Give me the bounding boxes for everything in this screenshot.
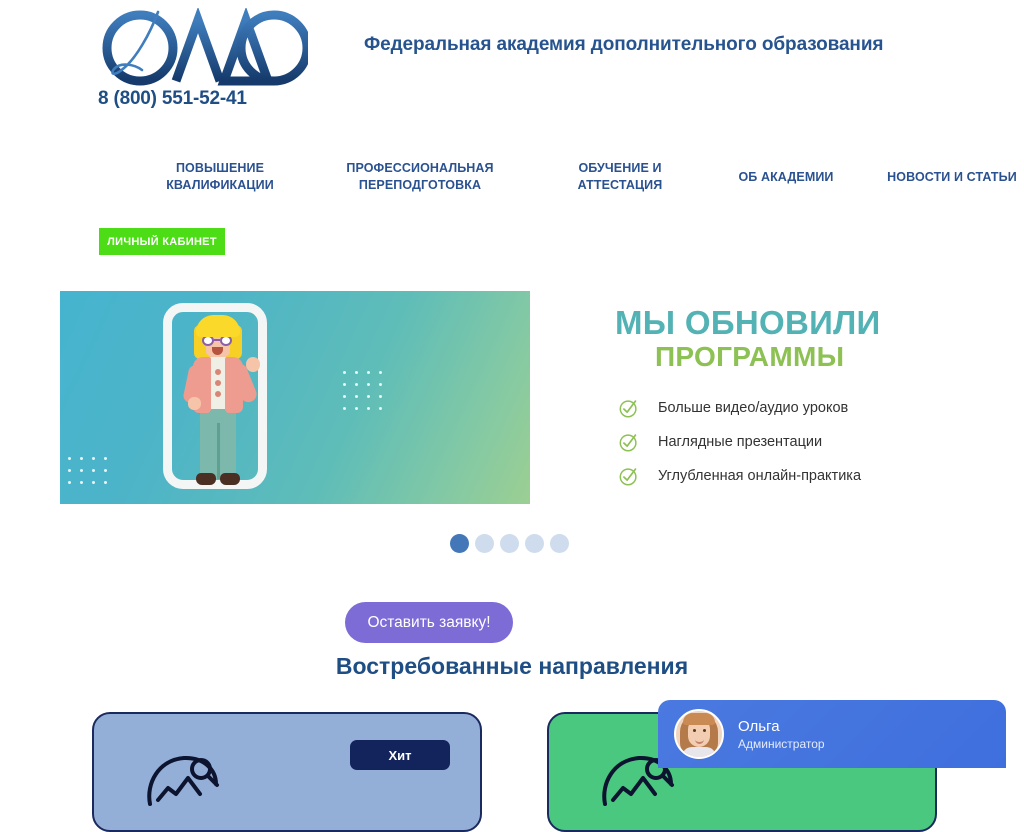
chat-operator-info: Ольга Администратор [738, 717, 825, 752]
slider-dot-5[interactable] [550, 534, 569, 553]
direction-card-1[interactable]: Хит [92, 712, 482, 832]
check-circle-icon [618, 397, 640, 419]
slider-dot-1[interactable] [450, 534, 469, 553]
card-badge-hit[interactable]: Хит [350, 740, 450, 770]
character-illustration [172, 313, 264, 493]
site-header: 8 (800) 551-52-41 Федеральная академия д… [0, 0, 1024, 130]
avatar [674, 709, 724, 759]
hero-feature-list: Больше видео/аудио уроков Наглядные през… [618, 391, 938, 493]
check-circle-icon [618, 465, 640, 487]
feature-label: Углубленная онлайн-практика [658, 468, 861, 484]
nav-item-novosti-i-stati[interactable]: НОВОСТИ И СТАТЬИ [880, 169, 1024, 186]
personal-account-button[interactable]: ЛИЧНЫЙ КАБИНЕТ [99, 228, 225, 255]
feature-label: Больше видео/аудио уроков [658, 400, 848, 416]
section-title-directions: Востребованные направления [0, 653, 1024, 680]
slider-dot-2[interactable] [475, 534, 494, 553]
leave-request-button[interactable]: Оставить заявку! [345, 602, 513, 643]
feature-label: Наглядные презентации [658, 434, 822, 450]
slider-pagination [450, 534, 569, 553]
nav-item-ob-akademii[interactable]: ОБ АКАДЕМИИ [727, 169, 845, 186]
chat-widget[interactable]: Ольга Администратор [658, 700, 1006, 768]
hero-slider: МЫ ОБНОВИЛИ ПРОГРАММЫ Больше видео/аудио… [60, 291, 964, 504]
list-item: Наглядные презентации [618, 425, 938, 459]
hero-headline-line1: МЫ ОБНОВИЛИ [615, 304, 881, 342]
page-title: Федеральная академия дополнительного обр… [364, 34, 883, 56]
slider-dot-4[interactable] [525, 534, 544, 553]
hero-slide-text-panel: МЫ ОБНОВИЛИ ПРОГРАММЫ Больше видео/аудио… [530, 291, 964, 504]
nav-item-professionalnaya-perepodgotovka[interactable]: ПРОФЕССИОНАЛЬНАЯ ПЕРЕПОДГОТОВКА [341, 160, 499, 194]
decorative-dots-left [68, 457, 107, 484]
nav-item-povyshenie-kvalifikacii[interactable]: ПОВЫШЕНИЕ КВАЛИФИКАЦИИ [152, 160, 288, 194]
document-search-icon [144, 744, 228, 818]
hero-headline-line2: ПРОГРАММЫ [655, 341, 844, 373]
decorative-dots-center [343, 371, 382, 410]
chat-operator-name: Ольга [738, 717, 825, 736]
main-navigation: ПОВЫШЕНИЕ КВАЛИФИКАЦИИ ПРОФЕССИОНАЛЬНАЯ … [0, 160, 1024, 200]
slider-dot-3[interactable] [500, 534, 519, 553]
list-item: Углубленная онлайн-практика [618, 459, 938, 493]
check-circle-icon [618, 431, 640, 453]
nav-item-obuchenie-i-attestaciya[interactable]: ОБУЧЕНИЕ И АТТЕСТАЦИЯ [564, 160, 676, 194]
list-item: Больше видео/аудио уроков [618, 391, 938, 425]
hero-slide-image [60, 291, 530, 504]
fado-logo-icon [98, 8, 308, 86]
chat-operator-role: Администратор [738, 736, 825, 752]
header-phone[interactable]: 8 (800) 551-52-41 [98, 88, 247, 110]
logo[interactable] [98, 8, 318, 88]
